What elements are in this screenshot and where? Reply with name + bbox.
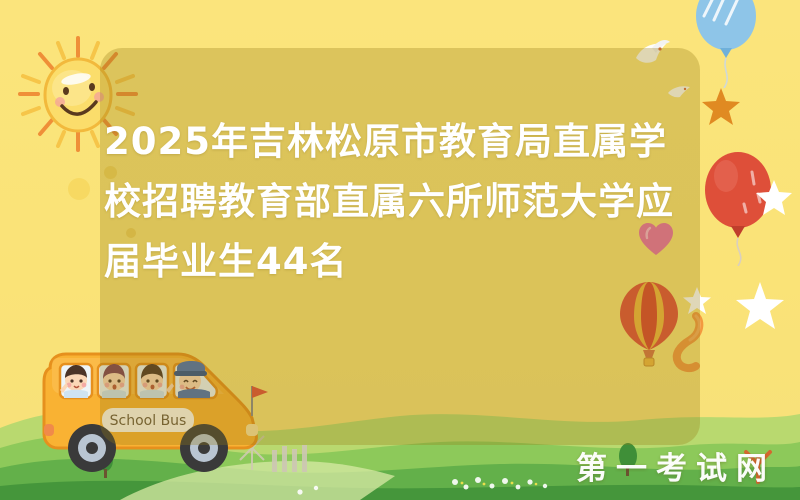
white-star-icon <box>734 280 786 332</box>
poster-canvas: School Bus 2025年吉林松原市教育局直属学校招聘教育部直属六所师范大… <box>0 0 800 500</box>
decor-dot-icon <box>68 178 90 200</box>
white-star-icon <box>754 178 794 218</box>
site-watermark: 第一考试网 <box>576 443 776 488</box>
page-title: 2025年吉林松原市教育局直属学校招聘教育部直属六所师范大学应届毕业生44名 <box>104 112 704 292</box>
orange-star-icon <box>700 86 742 128</box>
